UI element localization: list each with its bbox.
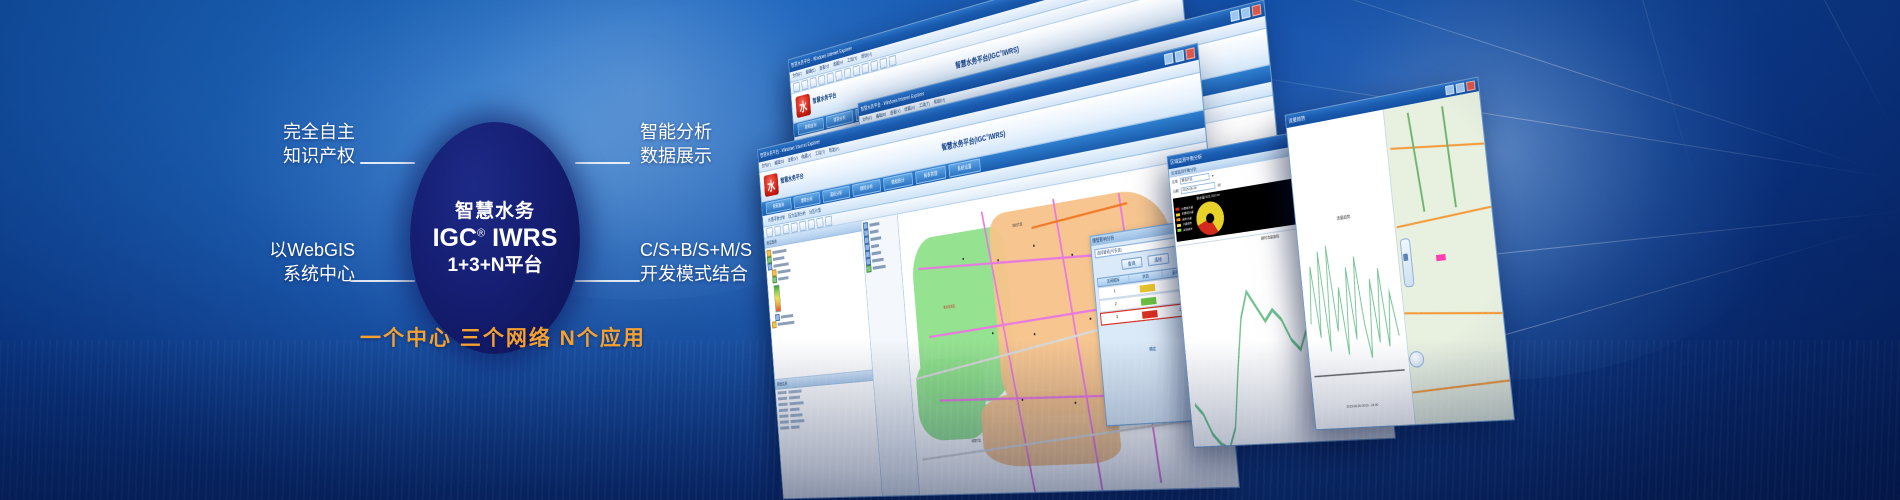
- trend-body: 流量趋势 2015-08-26 00:00 - 24:00: [1287, 91, 1515, 430]
- zoom-in-icon[interactable]: [774, 225, 781, 236]
- measure-icon[interactable]: [861, 62, 869, 74]
- zoom-out-icon[interactable]: [782, 223, 789, 234]
- attribute-panel[interactable]: 属性信息: [775, 370, 882, 499]
- tagline: 一个中心 三个网络 N个应用: [360, 322, 646, 352]
- layers-icon[interactable]: [825, 215, 832, 226]
- close-icon[interactable]: [1185, 47, 1195, 60]
- print-icon[interactable]: [816, 217, 823, 228]
- screenshot-stack: 智慧水务平台 - Windows Internet Explorer 文件(F)…: [780, 30, 1880, 480]
- zoom-slider-knob[interactable]: [1403, 253, 1408, 261]
- menu-item[interactable]: 编辑(E): [806, 67, 816, 75]
- map-node: [1032, 244, 1034, 247]
- minimize-icon[interactable]: [1445, 85, 1455, 96]
- settings-icon[interactable]: [889, 54, 897, 66]
- feature-top-left-line1: 完全自主: [283, 122, 355, 142]
- brand-name: 智慧水务平台: [780, 174, 804, 186]
- feature-bottom-right-line2: 开发模式结合: [640, 262, 840, 286]
- map-selection-marker: [1436, 253, 1446, 260]
- donut-chart: [1195, 199, 1226, 236]
- row-status: [1132, 301, 1167, 326]
- company-logo-icon: 水: [795, 93, 811, 118]
- platform-title-prefix: 智慧水务平台(IGC: [941, 135, 986, 152]
- chart-legend: 计费用水量 免费用水量 漏失水量 计量损失 其他损失: [1175, 205, 1195, 233]
- logo-line-1: 智慧水务: [455, 202, 535, 221]
- window-title: 流量趋势: [1288, 115, 1305, 125]
- measure-icon[interactable]: [808, 218, 815, 229]
- open-icon[interactable]: [801, 79, 808, 90]
- trend-window[interactable]: 流量趋势 流量趋势: [1285, 76, 1515, 430]
- feature-top-left: 完全自主 知识产权: [205, 120, 355, 169]
- logo-iwrs: IWRS: [492, 224, 557, 252]
- platform-logo-ellipse: 智慧水务 IGC® IWRS 1+3+N平台: [410, 122, 580, 354]
- legend-ramp: [774, 284, 782, 312]
- zoom-in-icon[interactable]: [827, 72, 834, 84]
- date-label: 日期: [1173, 189, 1179, 195]
- map-node: [997, 259, 999, 261]
- connector-bottom-left: [350, 280, 415, 282]
- registered-mark-icon: ®: [477, 227, 485, 239]
- close-icon[interactable]: [1252, 4, 1262, 17]
- menu-item[interactable]: 文件(F): [792, 71, 802, 79]
- maximize-icon[interactable]: [1455, 82, 1465, 93]
- zoom-out-icon[interactable]: [835, 69, 842, 81]
- concept-diagram: 智慧水务 IGC® IWRS 1+3+N平台 完全自主 知识产权 智能分析 数据…: [250, 100, 810, 400]
- pan-icon[interactable]: [844, 67, 852, 79]
- map-road-major: [1411, 379, 1509, 393]
- maximize-icon[interactable]: [1241, 7, 1251, 20]
- platform-title: 智慧水务平台(IGC®IWRS): [941, 128, 1006, 153]
- legend-label: 其他损失: [1183, 226, 1193, 231]
- logo-line-2: IGC® IWRS: [433, 226, 558, 251]
- banner-stage: 智慧水务 IGC® IWRS 1+3+N平台 完全自主 知识产权 智能分析 数据…: [0, 0, 1900, 500]
- brand-name: 智慧水务平台: [813, 94, 837, 107]
- feature-top-right-line1: 智能分析: [640, 122, 712, 142]
- export-tool-icon[interactable]: [866, 265, 871, 273]
- map-label: 城南片区: [971, 438, 981, 443]
- menu-item[interactable]: 帮助(H): [829, 146, 840, 154]
- region-label: 区域: [1172, 179, 1178, 185]
- chevron-down-icon[interactable]: ▾: [1212, 173, 1214, 178]
- company-logo-icon: 水: [764, 173, 779, 197]
- platform-title-suffix: IWRS): [988, 131, 1005, 142]
- feature-bottom-left: 以WebGIS 系统中心: [195, 238, 355, 287]
- logo-igc: IGC: [433, 224, 477, 252]
- dialog-clear-button[interactable]: 清除: [1147, 252, 1169, 266]
- feature-bottom-left-line1: 以WebGIS: [269, 240, 355, 260]
- map-road-minor: [1441, 106, 1456, 207]
- logo-line-3: 1+3+N平台: [447, 256, 542, 275]
- close-icon[interactable]: [1466, 80, 1476, 91]
- identify-icon[interactable]: [799, 220, 806, 231]
- minimize-icon[interactable]: [1230, 9, 1240, 22]
- minimize-icon[interactable]: [1164, 52, 1174, 65]
- map-node: [1074, 401, 1076, 403]
- save-icon[interactable]: [810, 76, 817, 87]
- maximize-icon[interactable]: [1175, 50, 1185, 63]
- feature-top-left-line2: 知识产权: [205, 144, 355, 168]
- pan-icon[interactable]: [766, 226, 773, 237]
- map-road-major: [1396, 206, 1491, 228]
- menu-item[interactable]: 查看(V): [819, 63, 829, 72]
- print-icon[interactable]: [818, 74, 825, 85]
- feature-top-right-line2: 数据展示: [640, 144, 820, 168]
- calendar-icon[interactable]: ▤: [1217, 181, 1221, 186]
- layer-swatch-icon: [772, 321, 777, 328]
- connector-bottom-right: [575, 280, 640, 282]
- donut-caption: 供水量 522,310 m³: [1196, 193, 1220, 202]
- trend-line: [1301, 227, 1405, 381]
- subnav-item[interactable]: 压力监测分析: [788, 210, 806, 219]
- map-node: [992, 332, 994, 334]
- trend-chart-title: 流量趋势: [1336, 213, 1350, 221]
- connector-top-right: [575, 162, 630, 164]
- row-order: 1: [1099, 287, 1131, 296]
- map-road-major: [1390, 142, 1484, 149]
- trend-axis-label: 2015-08-26 00:00 - 24:00: [1346, 402, 1378, 408]
- map-road-minor: [1407, 112, 1425, 211]
- subnav-item[interactable]: 分区计量: [809, 207, 821, 215]
- layers-icon[interactable]: [870, 59, 878, 71]
- select-icon[interactable]: [853, 64, 861, 76]
- platform-title-suffix: IWRS): [1002, 46, 1019, 58]
- dialog-query-button[interactable]: 查询: [1121, 256, 1143, 269]
- query-icon[interactable]: [879, 57, 887, 69]
- subnav-item[interactable]: 水量平衡分析: [768, 214, 785, 223]
- feature-bottom-right: C/S+B/S+M/S 开发模式结合: [640, 238, 840, 287]
- row-order: 2: [1100, 300, 1132, 309]
- feature-top-right: 智能分析 数据展示: [640, 120, 820, 169]
- row-order: 3: [1101, 313, 1133, 321]
- feature-bottom-right-line1: C/S+B/S+M/S: [640, 240, 752, 260]
- legend-entry: 其他损失: [1177, 226, 1195, 233]
- menu-item[interactable]: 帮助(H): [861, 51, 872, 60]
- map-road-major: [1403, 311, 1502, 313]
- feature-bottom-left-line2: 系统中心: [195, 262, 355, 286]
- menu-item[interactable]: 收藏(A): [833, 59, 843, 68]
- menu-item[interactable]: 工具(T): [847, 55, 857, 64]
- new-icon[interactable]: [793, 81, 800, 92]
- connector-top-left: [360, 162, 415, 164]
- full-extent-icon[interactable]: [791, 222, 798, 233]
